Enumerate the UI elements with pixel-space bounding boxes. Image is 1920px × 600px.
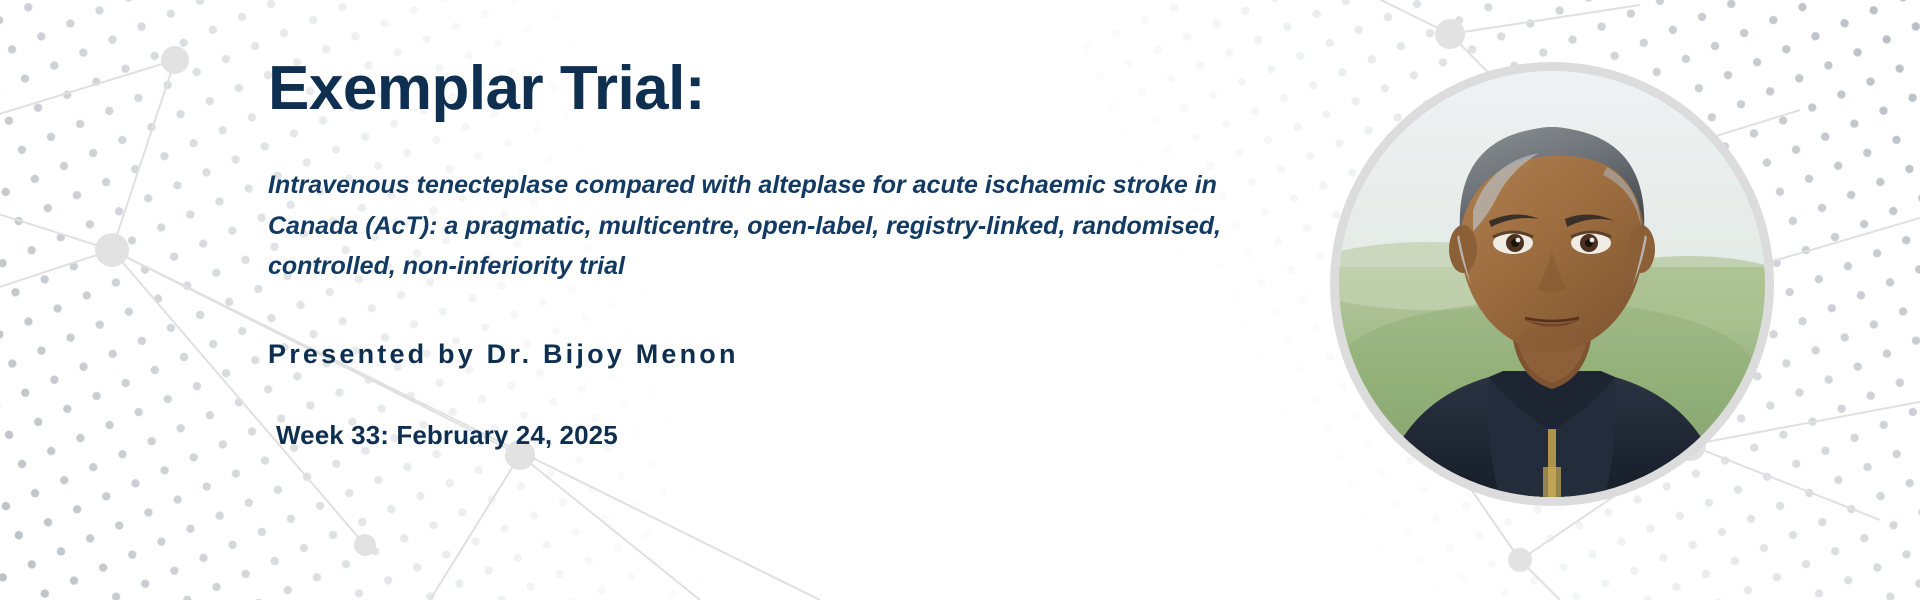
avatar (1330, 62, 1774, 506)
portrait-photo (1339, 71, 1765, 497)
trial-subtitle: Intravenous tenecteplase compared with a… (268, 165, 1258, 287)
presenter-line: Presented by Dr. Bijoy Menon (268, 339, 1268, 370)
date-line: Week 33: February 24, 2025 (276, 420, 1268, 451)
slide-text-column: Exemplar Trial: Intravenous tenecteplase… (268, 56, 1268, 451)
page-title: Exemplar Trial: (268, 56, 1268, 121)
presentation-title-slide: Exemplar Trial: Intravenous tenecteplase… (0, 0, 1920, 600)
portrait-illustration (1339, 71, 1765, 497)
